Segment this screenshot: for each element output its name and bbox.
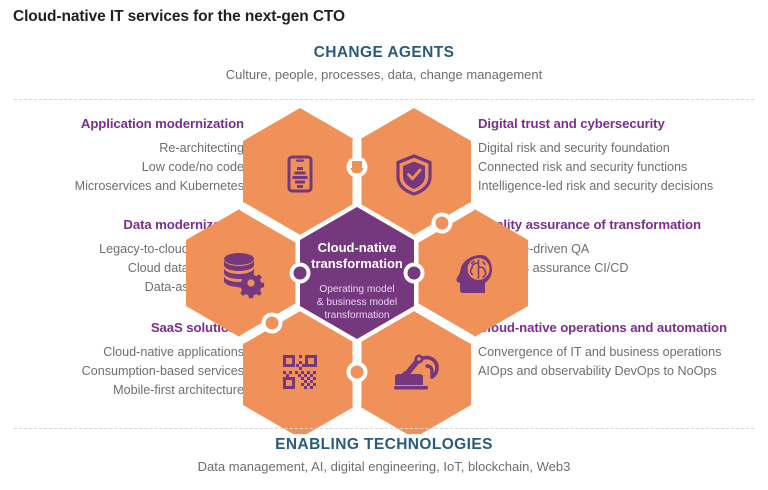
change-agents-title: CHANGE AGENTS xyxy=(0,44,768,61)
page-title: Cloud-native IT services for the next-ge… xyxy=(13,8,345,26)
enabling-technologies-subtitle: Data management, AI, digital engineering… xyxy=(0,459,768,475)
change-agents-subtitle: Culture, people, processes, data, change… xyxy=(0,67,768,83)
divider-top xyxy=(14,99,754,100)
center-title-line1: Cloud-native xyxy=(318,240,397,255)
center-sub-line3: transformation xyxy=(324,310,389,321)
diagram-canvas: Cloud-native IT services for the next-ge… xyxy=(0,0,768,490)
center-title-line2: transformation xyxy=(311,256,403,271)
enabling-technologies-band: ENABLING TECHNOLOGIES Data management, A… xyxy=(0,436,768,475)
enabling-technologies-title: ENABLING TECHNOLOGIES xyxy=(0,436,768,453)
divider-bottom xyxy=(14,428,754,429)
honeycomb-diagram: Cloud-native transformation Operating mo… xyxy=(186,104,582,434)
change-agents-band: CHANGE AGENTS Culture, people, processes… xyxy=(0,44,768,83)
center-sub-line1: Operating model xyxy=(319,284,394,295)
center-sub-line2: & business model xyxy=(317,297,397,308)
